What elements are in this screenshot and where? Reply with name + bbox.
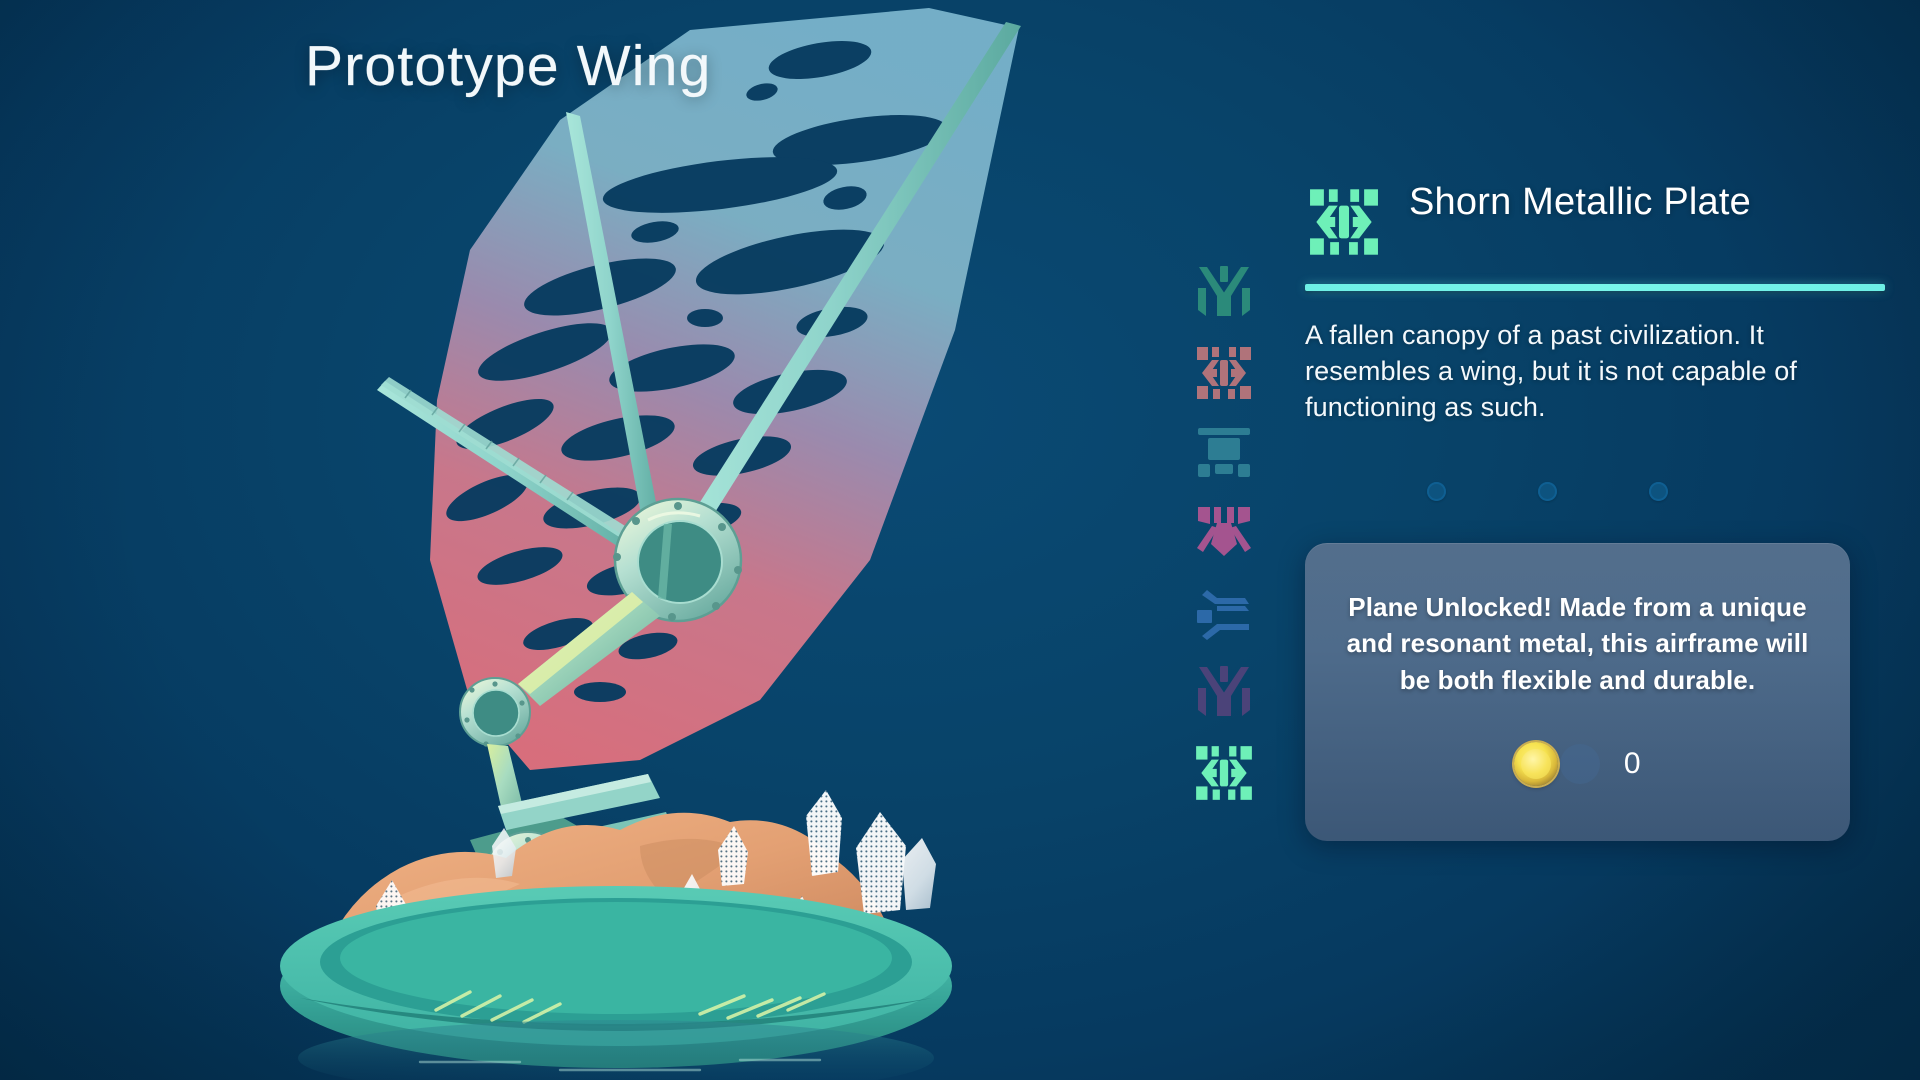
unlock-card: Plane Unlocked! Made from a unique and r… — [1305, 543, 1850, 841]
glyph-wishbone-violet[interactable] — [1189, 662, 1259, 724]
item-info-panel: Shorn Metallic Plate A fallen canopy of … — [1305, 178, 1885, 841]
elbow-joint — [460, 678, 530, 747]
glyph-funnel-magenta[interactable] — [1189, 502, 1259, 564]
pagination-dot-3[interactable] — [1649, 482, 1668, 501]
glyph-plate-mint-icon — [1305, 178, 1385, 262]
glyph-plate-rose[interactable] — [1189, 342, 1259, 404]
artwork-stage — [0, 0, 1160, 1080]
glyph-anvil-steel[interactable] — [1189, 422, 1259, 484]
glyph-chevron-blue[interactable] — [1189, 582, 1259, 644]
pagination-dot-2[interactable] — [1538, 482, 1557, 501]
item-title: Shorn Metallic Plate — [1409, 178, 1751, 224]
base-disc — [280, 886, 952, 1080]
pagination-dot-1[interactable] — [1427, 482, 1446, 501]
panel-divider — [1305, 284, 1885, 291]
glyph-rail[interactable] — [1182, 262, 1266, 804]
cost-value: 0 — [1624, 747, 1641, 781]
gold-coin-icon — [1514, 742, 1558, 786]
pagination-dots[interactable] — [1305, 482, 1885, 501]
coin-stack-shadow — [1560, 744, 1600, 784]
page-title: Prototype Wing — [305, 33, 711, 99]
cost-row: 0 — [1339, 742, 1816, 786]
glyph-wishbone-teal[interactable] — [1189, 262, 1259, 324]
panel-header: Shorn Metallic Plate — [1305, 178, 1885, 262]
unlock-message: Plane Unlocked! Made from a unique and r… — [1339, 589, 1816, 698]
wing-membrane — [430, 8, 1019, 770]
item-description: A fallen canopy of a past civilization. … — [1305, 318, 1865, 426]
glyph-plate-mint[interactable] — [1189, 742, 1259, 804]
